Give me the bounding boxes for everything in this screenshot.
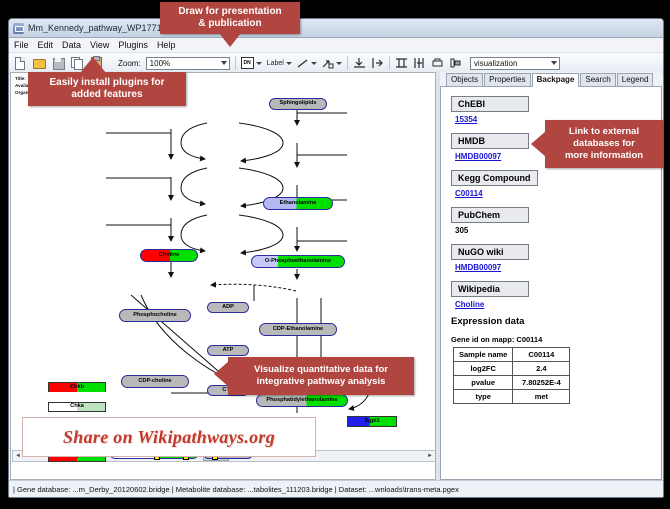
node-label: Ethanolamine: [280, 201, 317, 207]
db-header-chebi: ChEBI: [451, 96, 529, 112]
node-adp[interactable]: ADP: [207, 302, 249, 313]
toolbar-divider: [347, 56, 348, 70]
db-link-wikipedia[interactable]: Choline: [455, 300, 661, 309]
callout-share-text: Share on Wikipathways.org: [63, 427, 275, 448]
screenshot-root: Mm_Kennedy_pathway_WP1771_45176.gpml - P…: [0, 0, 670, 509]
title-bar: Mm_Kennedy_pathway_WP1771_45176.gpml - P…: [9, 19, 663, 38]
side-panel-tabs: Objects Properties Backpage Search Legen…: [440, 72, 662, 87]
menu-item-help[interactable]: Help: [157, 38, 176, 52]
node-o-phosphoethanolamine[interactable]: O-Phosphoethanolamine: [251, 255, 345, 268]
db-entry-pubchem: PubChem 305: [451, 205, 661, 235]
label-tool-label: Label: [267, 60, 284, 67]
toolbar-divider: [389, 56, 390, 70]
open-icon[interactable]: [32, 56, 46, 70]
db-entry-nugo: NuGO wiki HMDB00097: [451, 242, 661, 272]
status-bar: | Gene database: ...m_Derby_20120602.bri…: [9, 480, 663, 497]
node-cdp-choline[interactable]: CDP-choline: [121, 375, 189, 388]
cell-value: 7.80252E-4: [513, 376, 570, 390]
cell-value: 2.4: [513, 362, 570, 376]
node-label: CDP-choline: [138, 379, 171, 385]
visualization-combo[interactable]: visualization: [470, 57, 560, 70]
node-label: O-Phosphoethanolamine: [265, 259, 331, 265]
label-tool[interactable]: Label: [267, 60, 292, 67]
pathvisio-icon: [13, 23, 24, 34]
db-entry-kegg: Kegg Compound C00114: [451, 168, 661, 198]
node-sgpl1[interactable]: Sgpl1: [347, 416, 397, 427]
db-header-nugo: NuGO wiki: [451, 244, 529, 260]
node-label: Choline: [159, 253, 180, 259]
menu-bar: File Edit Data View Plugins Help: [9, 38, 663, 53]
canvas-info-labels: Title: Availa Organ: [15, 75, 29, 96]
order-icon[interactable]: [449, 57, 462, 69]
canvas-info-availability: Availa: [15, 82, 29, 89]
visualization-value: visualization: [474, 59, 518, 68]
menu-item-plugins[interactable]: Plugins: [118, 38, 148, 52]
callout-share: Share on Wikipathways.org: [22, 417, 316, 457]
node-label: Sgpl1: [364, 419, 379, 425]
chevron-down-icon: [551, 61, 557, 65]
chevron-down-icon: [311, 62, 317, 65]
callout-plugins: Easily install plugins for added feature…: [28, 72, 186, 106]
gene-id-line: Gene id on mapp: C00114: [451, 335, 661, 344]
datanode-icon: DN: [241, 57, 254, 69]
menu-item-edit[interactable]: Edit: [38, 38, 54, 52]
node-phosphocholine[interactable]: Phosphocholine: [119, 309, 191, 322]
chevron-down-icon: [286, 62, 292, 65]
node-label: Sphingolipids: [280, 101, 317, 107]
db-header-wikipedia: Wikipedia: [451, 281, 529, 297]
status-text: | Gene database: ...m_Derby_20120602.bri…: [9, 485, 459, 494]
align-left-icon[interactable]: [371, 57, 384, 69]
distribute-horizontal-icon[interactable]: [413, 57, 426, 69]
cell-value: met: [513, 390, 570, 404]
node-ethanolamine-top[interactable]: Ethanolamine: [263, 197, 333, 210]
interaction-icon: [322, 58, 334, 69]
table-row: pvalue 7.80252E-4: [454, 376, 570, 390]
menu-item-data[interactable]: Data: [62, 38, 81, 52]
cell-key: type: [454, 390, 513, 404]
line-tool[interactable]: [297, 58, 317, 69]
chevron-down-icon: [256, 62, 262, 65]
tab-backpage[interactable]: Backpage: [532, 73, 580, 87]
db-header-pubchem: PubChem: [451, 207, 529, 223]
canvas-info-title: Title:: [15, 75, 29, 82]
tab-legend[interactable]: Legend: [617, 73, 654, 86]
node-label: Chkb: [70, 385, 84, 391]
line-icon: [297, 58, 309, 69]
zoom-combo[interactable]: 100%: [146, 57, 230, 70]
db-header-kegg: Kegg Compound: [451, 170, 538, 186]
save-icon[interactable]: [51, 56, 65, 70]
menu-item-view[interactable]: View: [90, 38, 109, 52]
stack-icon[interactable]: [431, 57, 444, 69]
node-sphingolipids[interactable]: Sphingolipids: [269, 98, 327, 110]
cell-key: log2FC: [454, 362, 513, 376]
tab-objects[interactable]: Objects: [446, 73, 483, 86]
node-choline-top[interactable]: Choline: [140, 249, 198, 262]
align-bottom-icon[interactable]: [353, 57, 366, 69]
callout-visualize-arrow-icon: [214, 361, 229, 387]
tab-properties[interactable]: Properties: [484, 73, 530, 86]
db-link-kegg[interactable]: C00114: [455, 189, 661, 198]
cell-key: Sample name: [454, 348, 513, 362]
db-header-hmdb: HMDB: [451, 133, 529, 149]
callout-visualize: Visualize quantitative data for integrat…: [228, 357, 414, 395]
menu-item-file[interactable]: File: [14, 38, 29, 52]
db-entry-wikipedia: Wikipedia Choline: [451, 279, 661, 309]
node-label: ATP: [223, 348, 234, 354]
zoom-label: Zoom:: [118, 59, 141, 68]
table-row: log2FC 2.4: [454, 362, 570, 376]
datanode-tool[interactable]: DN: [241, 57, 262, 69]
cell-key: pvalue: [454, 376, 513, 390]
expression-data-heading: Expression data: [451, 316, 661, 327]
scroll-right-icon[interactable]: ►: [425, 452, 435, 460]
node-label: Chka: [70, 404, 84, 410]
new-icon[interactable]: [13, 56, 27, 70]
node-label: Phosphocholine: [133, 313, 177, 319]
toolbar-divider: [235, 56, 236, 70]
distribute-vertical-icon[interactable]: [395, 57, 408, 69]
db-value-pubchem: 305: [455, 226, 661, 235]
callout-external-db-arrow-icon: [531, 131, 546, 157]
callout-plugins-arrow-icon: [80, 57, 106, 73]
table-row: Sample name C00114: [454, 348, 570, 362]
expression-table: Sample name C00114 log2FC 2.4 pvalue 7.8…: [453, 347, 570, 404]
db-link-nugo[interactable]: HMDB00097: [455, 263, 661, 272]
chevron-down-icon: [336, 62, 342, 65]
node-chkb[interactable]: Chkb: [48, 382, 106, 392]
node-chka[interactable]: Chka: [48, 402, 106, 412]
tab-search[interactable]: Search: [580, 73, 615, 86]
chevron-down-icon: [221, 61, 227, 65]
table-row: type met: [454, 390, 570, 404]
callout-draw-arrow-icon: [219, 33, 241, 47]
callout-external-db: Link to external databases for more info…: [545, 120, 663, 168]
node-label: Phosphatidylethanolamine: [266, 398, 337, 404]
canvas-info-organism: Organ: [15, 89, 29, 96]
node-label: CDP-Ethanolamine: [273, 327, 323, 333]
node-cdp-ethanolamine[interactable]: CDP-Ethanolamine: [259, 323, 337, 336]
node-phosphatidylethanolamine[interactable]: Phosphatidylethanolamine: [256, 394, 348, 407]
interaction-tool[interactable]: [322, 58, 342, 69]
node-label: ADP: [222, 305, 234, 311]
zoom-value: 100%: [150, 59, 170, 68]
callout-draw: Draw for presentation & publication: [160, 2, 300, 34]
node-atp[interactable]: ATP: [207, 345, 249, 356]
cell-value: C00114: [513, 348, 570, 362]
